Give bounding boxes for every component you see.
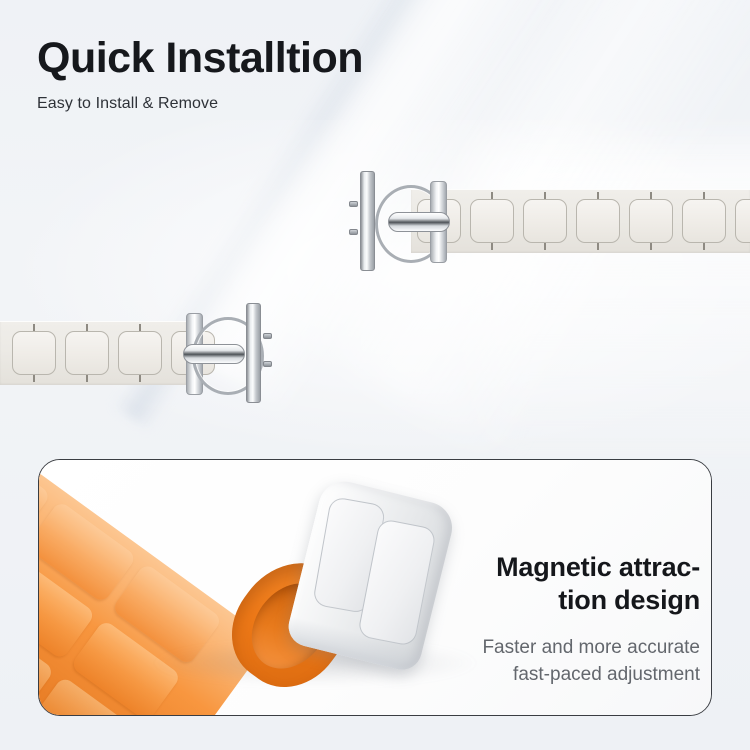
page-subtitle: Easy to Install & Remove: [37, 95, 363, 113]
strap-body-bottom: [0, 321, 186, 385]
orange-watch-band: [38, 459, 269, 716]
strap-segment: [12, 331, 56, 375]
strap-segment: [735, 199, 750, 243]
watch-band-top: [349, 168, 750, 280]
strap-body-top: [411, 189, 750, 253]
magnetic-bar-icon: [183, 344, 245, 364]
product-marketing-page: Quick Installtion Easy to Install & Remo…: [0, 0, 750, 750]
connector-pin-icon: [263, 361, 272, 367]
connector-pin-icon: [349, 201, 358, 207]
header: Quick Installtion Easy to Install & Remo…: [37, 36, 363, 113]
strap-segment: [682, 199, 726, 243]
strap-segment: [576, 199, 620, 243]
page-title: Quick Installtion: [37, 36, 363, 81]
strap-segment: [523, 199, 567, 243]
watch-band-bottom: [0, 300, 300, 412]
connector-pin-icon: [349, 229, 358, 235]
connector-lug-icon: [246, 303, 261, 403]
strap-segment: [118, 331, 162, 375]
strap-segment: [65, 331, 109, 375]
strap-segment: [470, 199, 514, 243]
connector-lug-icon: [360, 171, 375, 271]
magnetic-bar-icon: [388, 212, 450, 232]
strap-segment: [629, 199, 673, 243]
product-photo: [39, 460, 711, 715]
connector-pin-icon: [263, 333, 272, 339]
feature-card: [38, 459, 712, 716]
